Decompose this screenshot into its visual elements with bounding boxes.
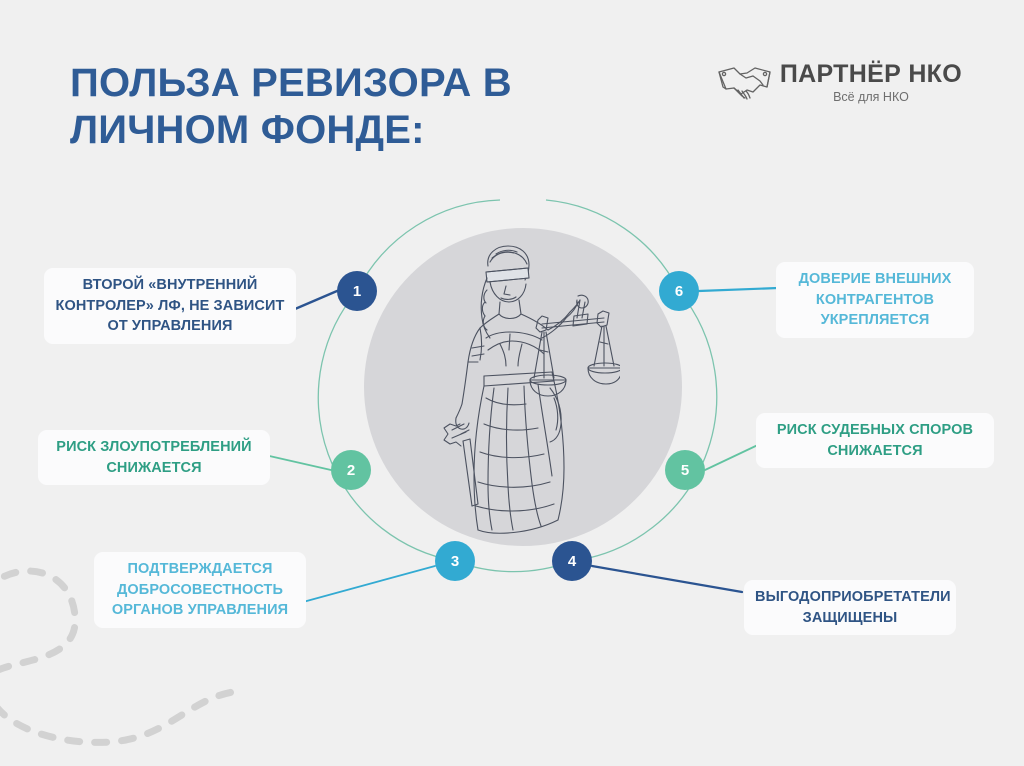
callout-label-2: РИСК ЗЛОУПОТРЕБЛЕНИЙ СНИЖАЕТСЯ bbox=[38, 430, 270, 485]
connector-line-3 bbox=[303, 566, 435, 602]
connector-line-6 bbox=[699, 288, 778, 291]
connector-line-5 bbox=[705, 443, 762, 470]
number-badge-2[interactable]: 2 bbox=[331, 450, 371, 490]
callout-label-5: РИСК СУДЕБНЫХ СПОРОВ СНИЖАЕТСЯ bbox=[756, 413, 994, 468]
number-badge-4[interactable]: 4 bbox=[552, 541, 592, 581]
brand-logo: ПАРТНЁР НКО Всё для НКО bbox=[717, 62, 962, 104]
logo-name: ПАРТНЁР НКО bbox=[780, 62, 962, 87]
logo-tagline: Всё для НКО bbox=[833, 91, 909, 104]
connector-line-2 bbox=[265, 455, 331, 470]
number-badge-1[interactable]: 1 bbox=[337, 271, 377, 311]
callout-label-1: ВТОРОЙ «ВНУТРЕННИЙ КОНТРОЛЕР» ЛФ, НЕ ЗАВ… bbox=[44, 268, 296, 344]
number-badge-5[interactable]: 5 bbox=[665, 450, 705, 490]
callout-label-3: ПОДТВЕРЖДАЕТСЯ ДОБРОСОВЕСТНОСТЬ ОРГАНОВ … bbox=[94, 552, 306, 628]
connector-line-4 bbox=[592, 566, 742, 592]
handshake-icon bbox=[717, 63, 773, 103]
page-title: ПОЛЬЗА РЕВИЗОРА В ЛИЧНОМ ФОНДЕ: bbox=[70, 60, 590, 154]
infographic-canvas: ПОЛЬЗА РЕВИЗОРА В ЛИЧНОМ ФОНДЕ: ПАРТНЁР … bbox=[0, 0, 1024, 766]
lady-justice-icon bbox=[430, 238, 620, 548]
callout-label-6: ДОВЕРИЕ ВНЕШНИХ КОНТРАГЕНТОВ УКРЕПЛЯЕТСЯ bbox=[776, 262, 974, 338]
callout-label-4: ВЫГОДОПРИОБРЕТАТЕЛИ ЗАЩИЩЕНЫ bbox=[744, 580, 956, 635]
number-badge-3[interactable]: 3 bbox=[435, 541, 475, 581]
number-badge-6[interactable]: 6 bbox=[659, 271, 699, 311]
